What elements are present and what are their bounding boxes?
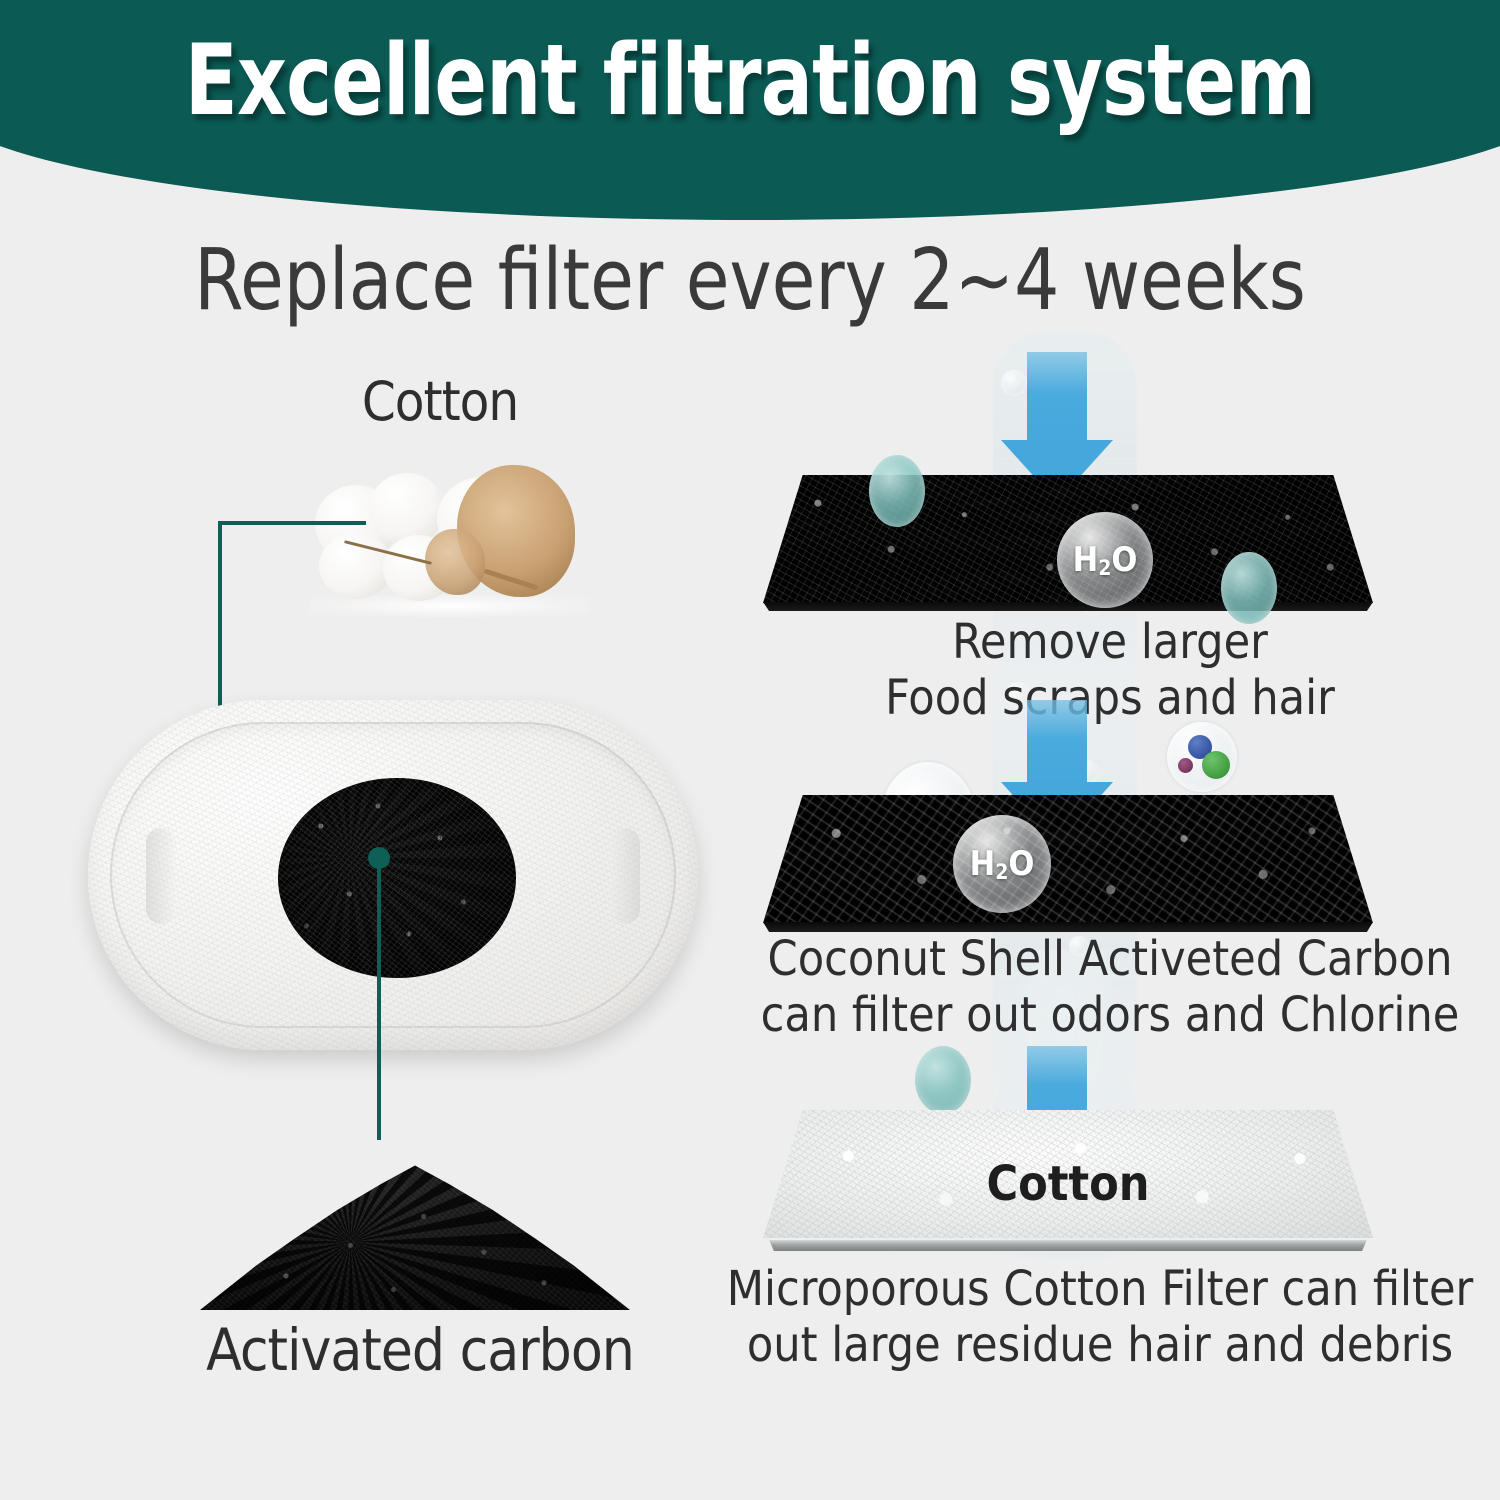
carbon-layer-texture	[763, 795, 1373, 923]
caption-layer-2: Coconut Shell Activeted Carbon can filte…	[720, 932, 1500, 1043]
h2o-label: H2O	[970, 844, 1035, 884]
filter-pad-product-photo	[88, 700, 698, 1050]
cotton-layer-overlay-label: Cotton	[763, 1156, 1373, 1212]
pad-notch-right	[610, 828, 640, 924]
cotton-material-label: Cotton	[230, 370, 650, 433]
subtitle-replace-interval: Replace filter every 2~4 weeks	[53, 236, 1448, 325]
cotton-boll-icon	[369, 473, 445, 545]
cotton-layer-edge	[769, 1240, 1367, 1251]
pad-notch-left	[146, 828, 176, 924]
carbon-leader-dot	[368, 847, 390, 869]
filter-layer-cotton: Cotton	[763, 1110, 1373, 1238]
cotton-leader-line-horizontal	[218, 521, 366, 525]
carbon-leader-line-vertical	[377, 858, 381, 1140]
mesh-layer-edge	[763, 602, 1373, 611]
caption-layer-3: Microporous Cotton Filter can filter out…	[700, 1262, 1500, 1373]
particle-bubble-teal	[869, 455, 925, 527]
h2o-label: H2O	[1073, 540, 1138, 580]
microbe-green-icon	[1202, 751, 1230, 779]
header-banner: Excellent filtration system	[0, 0, 1500, 230]
h2o-bubble-2: H2O	[953, 815, 1051, 913]
filter-layer-activated-carbon	[763, 795, 1373, 923]
carbon-core-disc	[278, 778, 516, 978]
arrow-shaft	[1027, 700, 1087, 786]
page-title: Excellent filtration system	[90, 30, 1410, 133]
activated-carbon-heap-photo	[200, 1140, 630, 1310]
carbon-heap-grains	[200, 1140, 630, 1310]
activated-carbon-label: Activated carbon	[110, 1316, 730, 1384]
microbe-purple-icon	[1178, 758, 1193, 773]
h2o-bubble-1: H2O	[1057, 512, 1153, 608]
microbe-bubble	[1167, 722, 1237, 792]
cotton-boll-photo	[297, 455, 597, 623]
cotton-husk-icon	[425, 529, 485, 595]
arrow-shaft	[1027, 352, 1087, 444]
particle-bubble-teal	[915, 1046, 971, 1114]
